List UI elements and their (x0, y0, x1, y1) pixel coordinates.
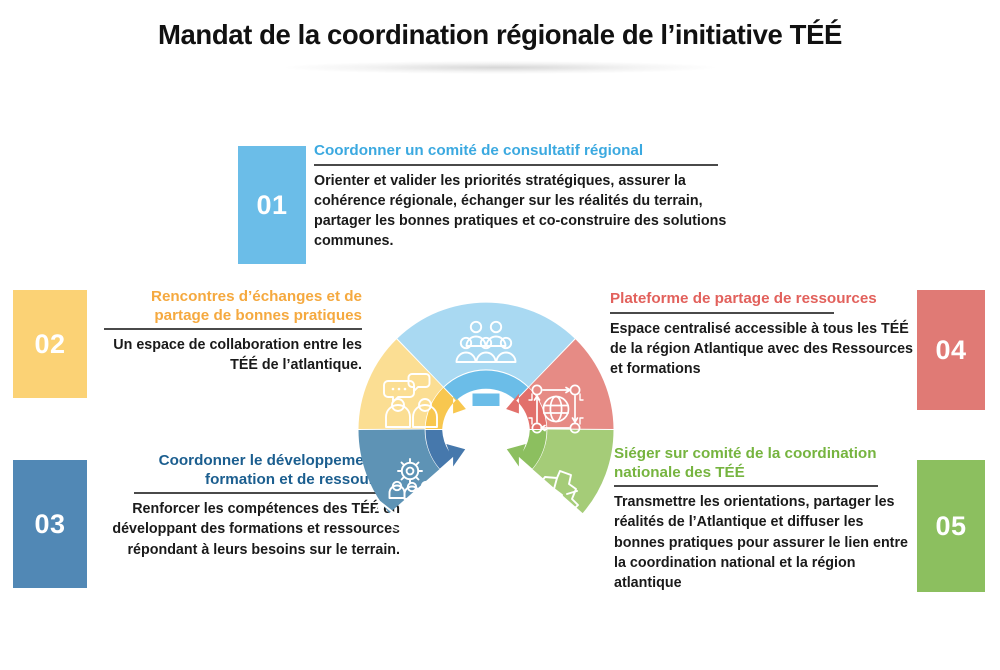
step-number-badge-02: 02 (13, 290, 87, 398)
step-rule-01 (314, 164, 718, 166)
step-number-badge-05: 05 (917, 460, 985, 592)
title-shadow-decoration (285, 61, 715, 74)
step-text-column-05: Siéger sur comité de la coordination nat… (614, 445, 914, 594)
step-body-01: Orienter et valider les priorités straté… (314, 171, 746, 252)
step-number-badge-04: 04 (917, 290, 985, 410)
central-arch-diagram (352, 296, 620, 564)
step-body-04: Espace centralisé accessible à tous les … (610, 319, 914, 380)
step-text-column-01: Coordonner un comité de consultatif régi… (314, 142, 746, 252)
step-heading-02: Rencontres d’échanges et de partage de b… (96, 288, 362, 325)
page-title: Mandat de la coordination régionale de l… (0, 18, 1000, 51)
step-number-badge-01: 01 (238, 146, 306, 264)
step-heading-01: Coordonner un comité de consultatif régi… (314, 142, 746, 161)
step-text-column-04: Plateforme de partage de ressources Espa… (610, 290, 914, 379)
title-area: Mandat de la coordination régionale de l… (0, 18, 1000, 74)
step-rule-02 (104, 328, 362, 330)
step-heading-05: Siéger sur comité de la coordination nat… (614, 445, 914, 482)
step-rule-04 (610, 312, 834, 314)
step-number-badge-03: 03 (13, 460, 87, 588)
step-heading-04: Plateforme de partage de ressources (610, 290, 914, 309)
arch-segment-03 (359, 430, 466, 514)
step-body-05: Transmettre les orientations, partager l… (614, 492, 914, 593)
step-text-column-02: Rencontres d’échanges et de partage de b… (96, 288, 362, 376)
step-body-02: Un espace de collaboration entre les TÉÉ… (96, 335, 362, 376)
step-rule-05 (614, 485, 878, 487)
